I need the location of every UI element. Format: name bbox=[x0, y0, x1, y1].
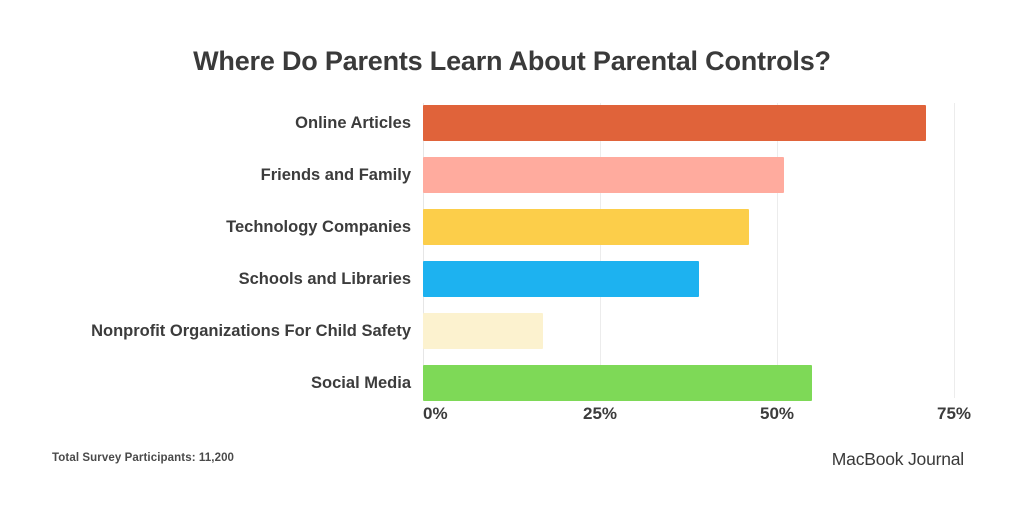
plot-area bbox=[423, 103, 954, 398]
bar-row bbox=[423, 157, 954, 193]
x-axis-ticks: 0%25%50%75% bbox=[423, 404, 954, 430]
category-label-online-articles: Online Articles bbox=[295, 105, 411, 141]
bar-nonprofit-organizations-for-child-safety[interactable] bbox=[423, 313, 543, 349]
category-axis-labels: Online ArticlesFriends and FamilyTechnol… bbox=[0, 103, 411, 398]
category-label-social-media: Social Media bbox=[311, 365, 411, 401]
survey-participants-note: Total Survey Participants: 11,200 bbox=[52, 452, 234, 464]
bar-series bbox=[423, 103, 954, 398]
brand-wordmark: MacBook Journal bbox=[832, 449, 964, 470]
bar-social-media[interactable] bbox=[423, 365, 812, 401]
gridline-75pct bbox=[954, 103, 955, 398]
bar-schools-and-libraries[interactable] bbox=[423, 261, 699, 297]
x-tick-25pct: 25% bbox=[583, 404, 617, 424]
x-tick-0pct: 0% bbox=[423, 404, 448, 424]
x-tick-50pct: 50% bbox=[760, 404, 794, 424]
category-label-friends-and-family: Friends and Family bbox=[261, 157, 411, 193]
bar-online-articles[interactable] bbox=[423, 105, 926, 141]
bar-friends-and-family[interactable] bbox=[423, 157, 784, 193]
category-label-schools-and-libraries: Schools and Libraries bbox=[239, 261, 411, 297]
bar-row bbox=[423, 105, 954, 141]
bar-row bbox=[423, 365, 954, 401]
bar-row bbox=[423, 313, 954, 349]
bar-row bbox=[423, 261, 954, 297]
chart-page: Where Do Parents Learn About Parental Co… bbox=[0, 0, 1024, 512]
bar-technology-companies[interactable] bbox=[423, 209, 749, 245]
page-title: Where Do Parents Learn About Parental Co… bbox=[0, 46, 1024, 77]
x-tick-75pct: 75% bbox=[937, 404, 971, 424]
category-label-nonprofit-organizations-for-child-safety: Nonprofit Organizations For Child Safety bbox=[91, 313, 411, 349]
category-label-technology-companies: Technology Companies bbox=[226, 209, 411, 245]
bar-row bbox=[423, 209, 954, 245]
